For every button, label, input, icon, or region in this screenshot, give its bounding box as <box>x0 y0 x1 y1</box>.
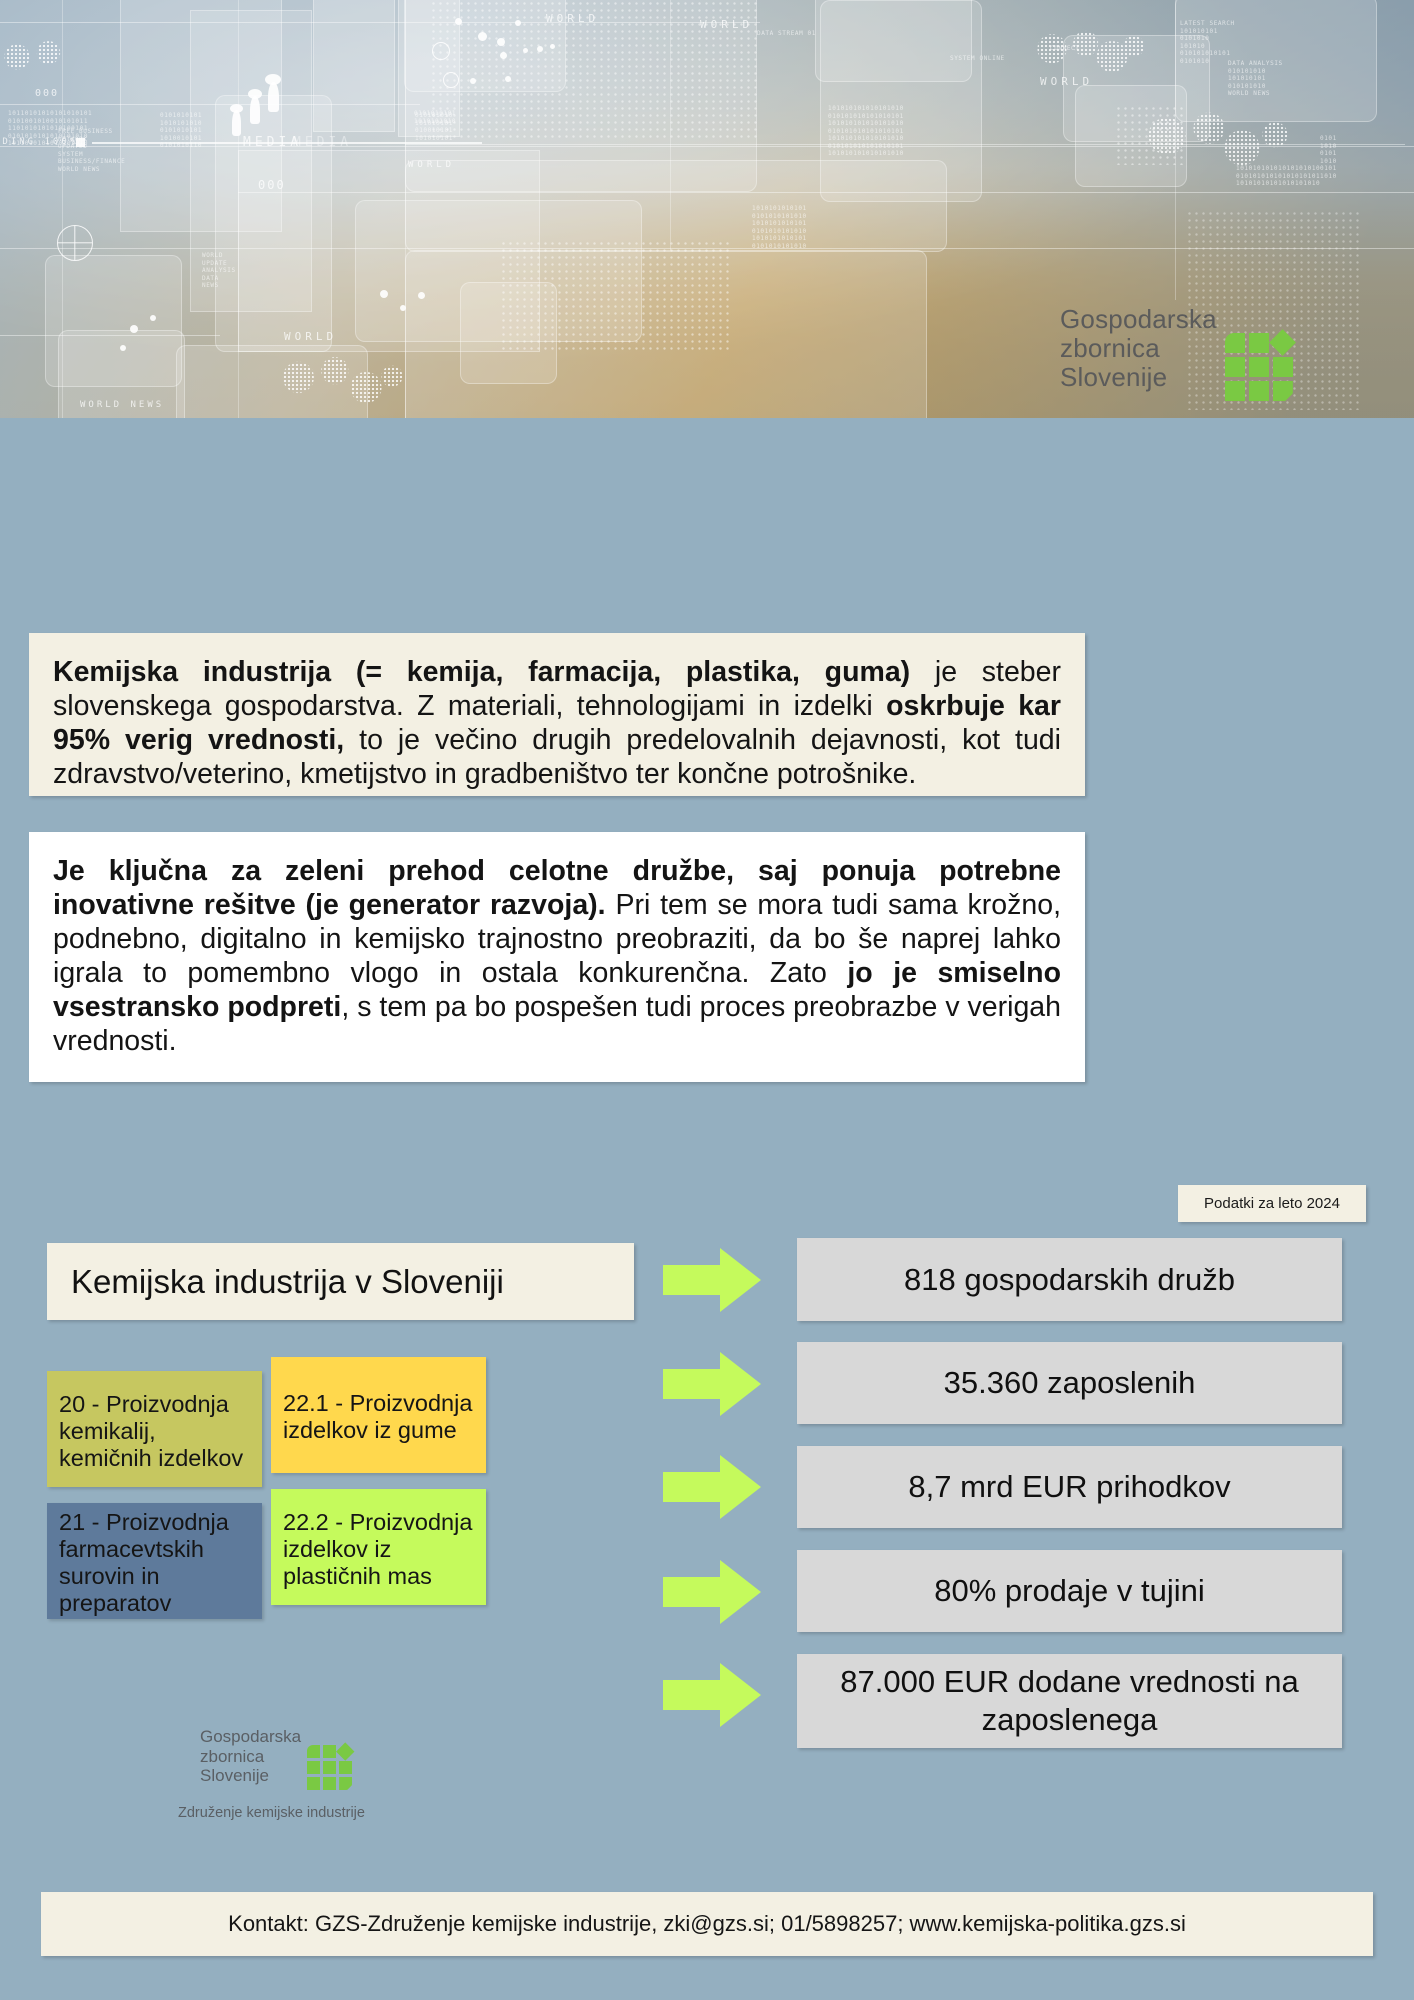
globe-icon <box>57 225 93 261</box>
arrow-right-icon <box>663 1663 761 1727</box>
network-node-icon <box>470 78 476 84</box>
network-ring-icon <box>443 72 459 88</box>
association-name-footer: Združenje kemijske industrije <box>178 1805 365 1821</box>
banner-code-text: DATA STREAM 01 <box>757 30 816 38</box>
person-icon <box>232 110 241 136</box>
header-banner: 10110101010101010101 0101001010010101011… <box>0 0 1414 418</box>
network-node-icon <box>400 305 406 311</box>
green-transition-text-card: Je ključna za zeleni prehod celotne druž… <box>29 832 1085 1082</box>
gzs-logo-mark <box>1225 333 1293 401</box>
banner-rule <box>0 335 220 336</box>
stat-box-export-share: 80% prodaje v tujini <box>797 1550 1342 1632</box>
logo-line-1: Gospodarska <box>1060 305 1217 334</box>
stat-box-revenue: 8,7 mrd EUR prihodkov <box>797 1446 1342 1528</box>
banner-code-text: 101010101010101010 010101010101010101 10… <box>828 105 904 158</box>
banner-dot-grid <box>500 240 730 350</box>
network-node-icon <box>380 290 388 298</box>
banner-label-000: 000 <box>35 88 59 99</box>
year-badge: Podatki za leto 2024 <box>1178 1185 1366 1222</box>
intro-text-card: Kemijska industrija (= kemija, farmacija… <box>29 633 1085 796</box>
banner-code-text: LATEST SEARCH 101010101 0101010 101010 0… <box>1180 20 1235 65</box>
stat-box-value-added: 87.000 EUR dodane vrednosti na zaposlene… <box>797 1654 1342 1748</box>
gzs-logo-header: Gospodarska zbornica Slovenije Združenje… <box>1060 305 1331 418</box>
banner-code-text: 0101010101 1010101010 <box>414 110 456 125</box>
network-node-icon <box>523 48 528 53</box>
person-icon <box>268 82 279 112</box>
network-node-icon <box>537 46 543 52</box>
person-icon <box>265 74 281 85</box>
stat-box-companies: 818 gospodarskih družb <box>797 1238 1342 1321</box>
gzs-logo-mark <box>307 1745 352 1790</box>
footer-logo-line-1: Gospodarska <box>200 1727 301 1747</box>
network-node-icon <box>505 76 511 82</box>
world-map-icon <box>1140 110 1290 175</box>
banner-loading-bar <box>92 142 482 144</box>
world-map-icon <box>275 355 405 411</box>
gzs-logo-footer: Gospodarska zbornica Slovenije Združenje… <box>200 1727 365 1821</box>
network-node-icon <box>497 38 505 46</box>
banner-code-text: SYSTEM ONLINE <box>950 55 1005 63</box>
banner-code-text: 1010101010101 0101010101010 101010101010… <box>752 205 807 250</box>
banner-label-world: WORLD <box>546 12 599 25</box>
banner-rule <box>238 192 1414 193</box>
banner-rule <box>0 104 420 105</box>
stat-box-employees: 35.360 zaposlenih <box>797 1342 1342 1424</box>
banner-label-world: WORLD <box>408 160 455 170</box>
network-node-icon <box>150 315 156 321</box>
network-node-icon <box>550 44 555 49</box>
category-box-22-2[interactable]: 22.2 - Proizvodnja izdelkov iz plastični… <box>271 1489 486 1605</box>
banner-code-text: DATA ANALYSIS 010101010 101010101 010101… <box>1228 60 1283 98</box>
banner-label-worldnews: WORLD NEWS <box>80 400 164 410</box>
category-box-20[interactable]: 20 - Proizvodnja kemikalij, kemičnih izd… <box>47 1371 262 1487</box>
banner-label-world: WORLD <box>284 330 337 343</box>
category-box-22-1[interactable]: 22.1 - Proizvodnja izdelkov iz gume <box>271 1357 486 1473</box>
banner-label-000: 000 <box>258 178 286 192</box>
person-icon <box>230 104 243 113</box>
person-icon <box>248 89 262 99</box>
network-ring-icon <box>432 42 450 60</box>
arrow-right-icon <box>663 1560 761 1624</box>
network-node-icon <box>455 18 462 25</box>
arrow-right-icon <box>663 1352 761 1416</box>
network-node-icon <box>120 345 126 351</box>
banner-code-text: WORLD UPDATE ANALYSIS DATA NEWS <box>202 252 236 290</box>
green-paragraph: Je ključna za zeleni prehod celotne druž… <box>53 854 1061 1058</box>
world-map-icon <box>1028 28 1148 80</box>
banner-rule <box>405 0 406 418</box>
banner-code-text: FREE BUSINESS NETWORK UPDATED SYSTEM BUS… <box>58 128 125 173</box>
footer-logo-line-2: zbornica <box>200 1747 301 1767</box>
arrow-right-icon <box>663 1248 761 1312</box>
banner-code-text: 0101 1010 0101 1010 0101 1010 <box>1320 135 1337 180</box>
banner-panel <box>820 0 982 202</box>
network-node-icon <box>418 292 425 299</box>
logo-line-2: zbornica <box>1060 334 1217 363</box>
person-icon <box>250 96 260 124</box>
banner-label-loading: RDING 100% <box>0 137 78 147</box>
category-box-21[interactable]: 21 - Proizvodnja farmacevtskih surovin i… <box>47 1503 262 1619</box>
network-node-icon <box>130 325 138 333</box>
banner-loading-square <box>76 138 85 147</box>
logo-line-3: Slovenije <box>1060 363 1217 392</box>
world-map-icon <box>0 40 80 82</box>
banner-rule <box>238 0 239 418</box>
network-node-icon <box>478 32 487 41</box>
network-node-icon <box>500 52 507 59</box>
network-node-icon <box>515 20 521 26</box>
footer-logo-line-3: Slovenije <box>200 1766 301 1786</box>
contact-bar: Kontakt: GZS-Združenje kemijske industri… <box>41 1892 1373 1956</box>
section-title-box: Kemijska industrija v Sloveniji <box>47 1243 634 1320</box>
banner-label-world: WORLD <box>700 18 753 31</box>
intro-paragraph: Kemijska industrija (= kemija, farmacija… <box>53 655 1061 791</box>
arrow-right-icon <box>663 1455 761 1519</box>
